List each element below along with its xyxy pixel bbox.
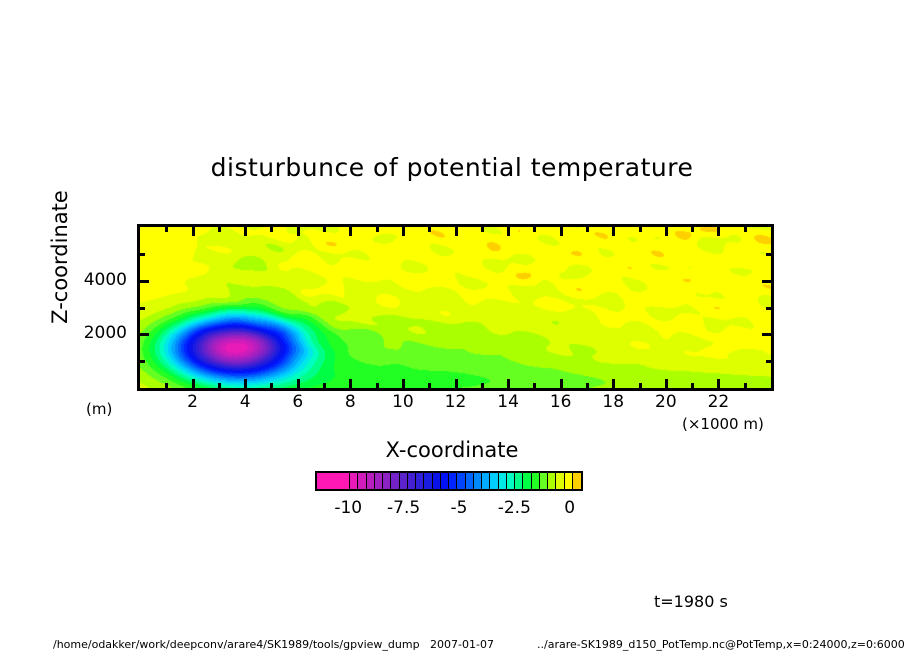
- x-tick-minor: [270, 383, 273, 388]
- y-tick-label: 4000: [57, 270, 127, 290]
- x-tick-mark: [665, 379, 668, 388]
- x-tick-minor-top: [639, 227, 642, 232]
- colorbar-cell: [565, 473, 573, 489]
- x-tick-label: 20: [636, 392, 696, 412]
- x-tick-minor: [481, 383, 484, 388]
- colorbar-cell: [573, 473, 581, 489]
- x-tick-label: 4: [215, 392, 275, 412]
- y-tick-minor-right: [766, 253, 771, 256]
- colorbar-cell: [499, 473, 507, 489]
- x-tick-label: 18: [583, 392, 643, 412]
- colorbar-cell: [383, 473, 391, 489]
- x-tick-minor-top: [533, 227, 536, 232]
- colorbar-cell: [416, 473, 424, 489]
- x-tick-mark-top: [717, 227, 720, 236]
- x-tick-minor-top: [691, 227, 694, 232]
- x-tick-minor-top: [218, 227, 221, 232]
- x-tick-mark: [507, 379, 510, 388]
- x-tick-label: 16: [531, 392, 591, 412]
- x-tick-mark: [455, 379, 458, 388]
- y-tick-minor-right: [766, 360, 771, 363]
- colorbar-cell: [548, 473, 556, 489]
- x-tick-minor-top: [428, 227, 431, 232]
- x-tick-mark-top: [402, 227, 405, 236]
- x-tick-minor: [323, 383, 326, 388]
- colorbar-cell: [523, 473, 531, 489]
- x-tick-minor: [744, 383, 747, 388]
- x-tick-mark: [717, 379, 720, 388]
- x-tick-label: 10: [373, 392, 433, 412]
- y-tick-minor-right: [766, 307, 771, 310]
- x-tick-mark: [560, 379, 563, 388]
- colorbar-cell: [391, 473, 399, 489]
- colorbar-cell: [375, 473, 383, 489]
- x-tick-mark: [349, 379, 352, 388]
- colorbar-tick-label: -2.5: [484, 498, 544, 518]
- contour-field-canvas: [140, 227, 771, 388]
- x-tick-label: 12: [426, 392, 486, 412]
- x-axis-unit-label: (×1000 m): [682, 415, 764, 433]
- x-tick-label: 2: [163, 392, 223, 412]
- x-tick-minor: [428, 383, 431, 388]
- x-tick-minor: [218, 383, 221, 388]
- x-tick-minor-top: [323, 227, 326, 232]
- colorbar-cell: [367, 473, 375, 489]
- colorbar-cell: [441, 473, 449, 489]
- colorbar-cell: [350, 473, 358, 489]
- x-tick-mark-top: [192, 227, 195, 236]
- contour-plot-area: [137, 224, 774, 391]
- x-tick-mark: [612, 379, 615, 388]
- colorbar-cell: [449, 473, 457, 489]
- colorbar-cell: [400, 473, 408, 489]
- colorbar-cell: [474, 473, 482, 489]
- x-tick-mark-top: [507, 227, 510, 236]
- x-tick-minor: [165, 383, 168, 388]
- x-tick-mark-top: [560, 227, 563, 236]
- footer-command-path: /home/odakker/work/deepconv/arare4/SK198…: [53, 638, 494, 651]
- x-tick-minor: [586, 383, 589, 388]
- x-tick-mark: [402, 379, 405, 388]
- y-tick-minor: [140, 360, 145, 363]
- x-tick-mark-top: [244, 227, 247, 236]
- colorbar-cell: [556, 473, 564, 489]
- colorbar-cell: [358, 473, 366, 489]
- x-tick-minor: [691, 383, 694, 388]
- figure-root: disturbunce of potential temperature Z-c…: [0, 0, 904, 654]
- colorbar-tick-label: -7.5: [374, 498, 434, 518]
- colorbar-cell: [408, 473, 416, 489]
- x-tick-label: 22: [688, 392, 748, 412]
- x-tick-mark-top: [297, 227, 300, 236]
- footer-data-source: ../arare-SK1989_d150_PotTemp.nc@PotTemp,…: [537, 638, 904, 651]
- y-axis-unit-label: (m): [86, 400, 112, 418]
- colorbar-tick-label: 0: [540, 498, 600, 518]
- x-tick-mark: [244, 379, 247, 388]
- y-tick-mark: [140, 280, 149, 283]
- x-tick-mark-top: [349, 227, 352, 236]
- colorbar-cell: [532, 473, 540, 489]
- page-title: disturbunce of potential temperature: [0, 153, 904, 182]
- y-tick-mark-right: [762, 280, 771, 283]
- colorbar-tick-label: -5: [429, 498, 489, 518]
- y-tick-mark: [140, 333, 149, 336]
- time-annotation: t=1980 s: [654, 592, 728, 611]
- colorbar-cell: [515, 473, 523, 489]
- x-tick-minor-top: [586, 227, 589, 232]
- y-tick-minor: [140, 307, 145, 310]
- colorbar-cell: [424, 473, 432, 489]
- x-tick-mark-top: [612, 227, 615, 236]
- colorbar-cell: [490, 473, 498, 489]
- colorbar-cell: [507, 473, 515, 489]
- colorbar-cell: [457, 473, 465, 489]
- x-tick-minor: [533, 383, 536, 388]
- colorbar-cell: [317, 473, 350, 489]
- x-tick-minor-top: [270, 227, 273, 232]
- colorbar-swatches: [315, 471, 583, 491]
- x-tick-minor: [639, 383, 642, 388]
- colorbar-cell: [482, 473, 490, 489]
- x-tick-minor-top: [165, 227, 168, 232]
- x-tick-label: 8: [320, 392, 380, 412]
- colorbar-cell: [540, 473, 548, 489]
- x-tick-mark: [192, 379, 195, 388]
- x-tick-minor: [376, 383, 379, 388]
- colorbar-cell: [466, 473, 474, 489]
- x-tick-label: 14: [478, 392, 538, 412]
- colorbar: [315, 471, 585, 493]
- x-tick-label: 6: [268, 392, 328, 412]
- colorbar-cell: [433, 473, 441, 489]
- y-tick-minor: [140, 253, 145, 256]
- colorbar-tick-label: -10: [318, 498, 378, 518]
- x-tick-minor-top: [376, 227, 379, 232]
- x-tick-minor-top: [744, 227, 747, 232]
- y-tick-mark-right: [762, 333, 771, 336]
- x-tick-minor-top: [481, 227, 484, 232]
- x-tick-mark-top: [455, 227, 458, 236]
- x-axis-title: X-coordinate: [0, 438, 904, 462]
- x-tick-mark-top: [665, 227, 668, 236]
- x-tick-mark: [297, 379, 300, 388]
- y-tick-label: 2000: [57, 323, 127, 343]
